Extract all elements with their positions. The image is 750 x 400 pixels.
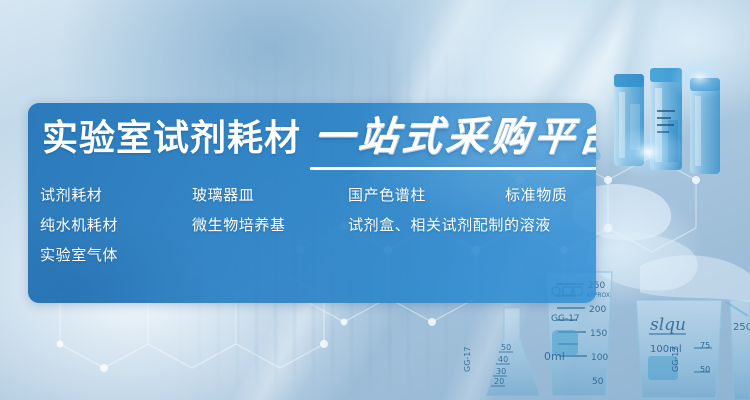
category-item[interactable]: 标准物质 <box>505 181 567 211</box>
category-row: 实验室气体 <box>40 241 588 271</box>
content-panel: 实验室试剂耗材 一站式采购平台 试剂耗材 玻璃器皿 国产色谱柱 标准物质 纯水机… <box>28 103 596 303</box>
headline-script-text: 一站式采购平台 <box>312 117 596 157</box>
headline-underline <box>310 167 596 170</box>
category-row: 试剂耗材 玻璃器皿 国产色谱柱 标准物质 <box>40 181 588 211</box>
category-item[interactable]: 试剂盒、相关试剂配制的溶液 <box>348 211 551 241</box>
laboratory-supplies-banner: 250 APPROX 200 150 100 50 GG-17 0ml <box>0 0 750 400</box>
category-item[interactable]: 实验室气体 <box>40 241 192 271</box>
headline: 实验室试剂耗材 一站式采购平台 <box>42 117 596 157</box>
category-item[interactable]: 玻璃器皿 <box>192 181 348 211</box>
category-item[interactable]: 微生物培养基 <box>192 211 348 241</box>
category-item[interactable]: 纯水机耗材 <box>40 211 192 241</box>
category-row: 纯水机耗材 微生物培养基 试剂盒、相关试剂配制的溶液 <box>40 211 588 241</box>
category-item[interactable]: 国产色谱柱 <box>348 181 505 211</box>
headline-script-wrap: 一站式采购平台 <box>314 117 596 157</box>
category-item[interactable]: 试剂耗材 <box>40 181 192 211</box>
category-list: 试剂耗材 玻璃器皿 国产色谱柱 标准物质 纯水机耗材 微生物培养基 试剂盒、相关… <box>40 181 588 271</box>
headline-main-text: 实验室试剂耗材 <box>42 120 301 156</box>
